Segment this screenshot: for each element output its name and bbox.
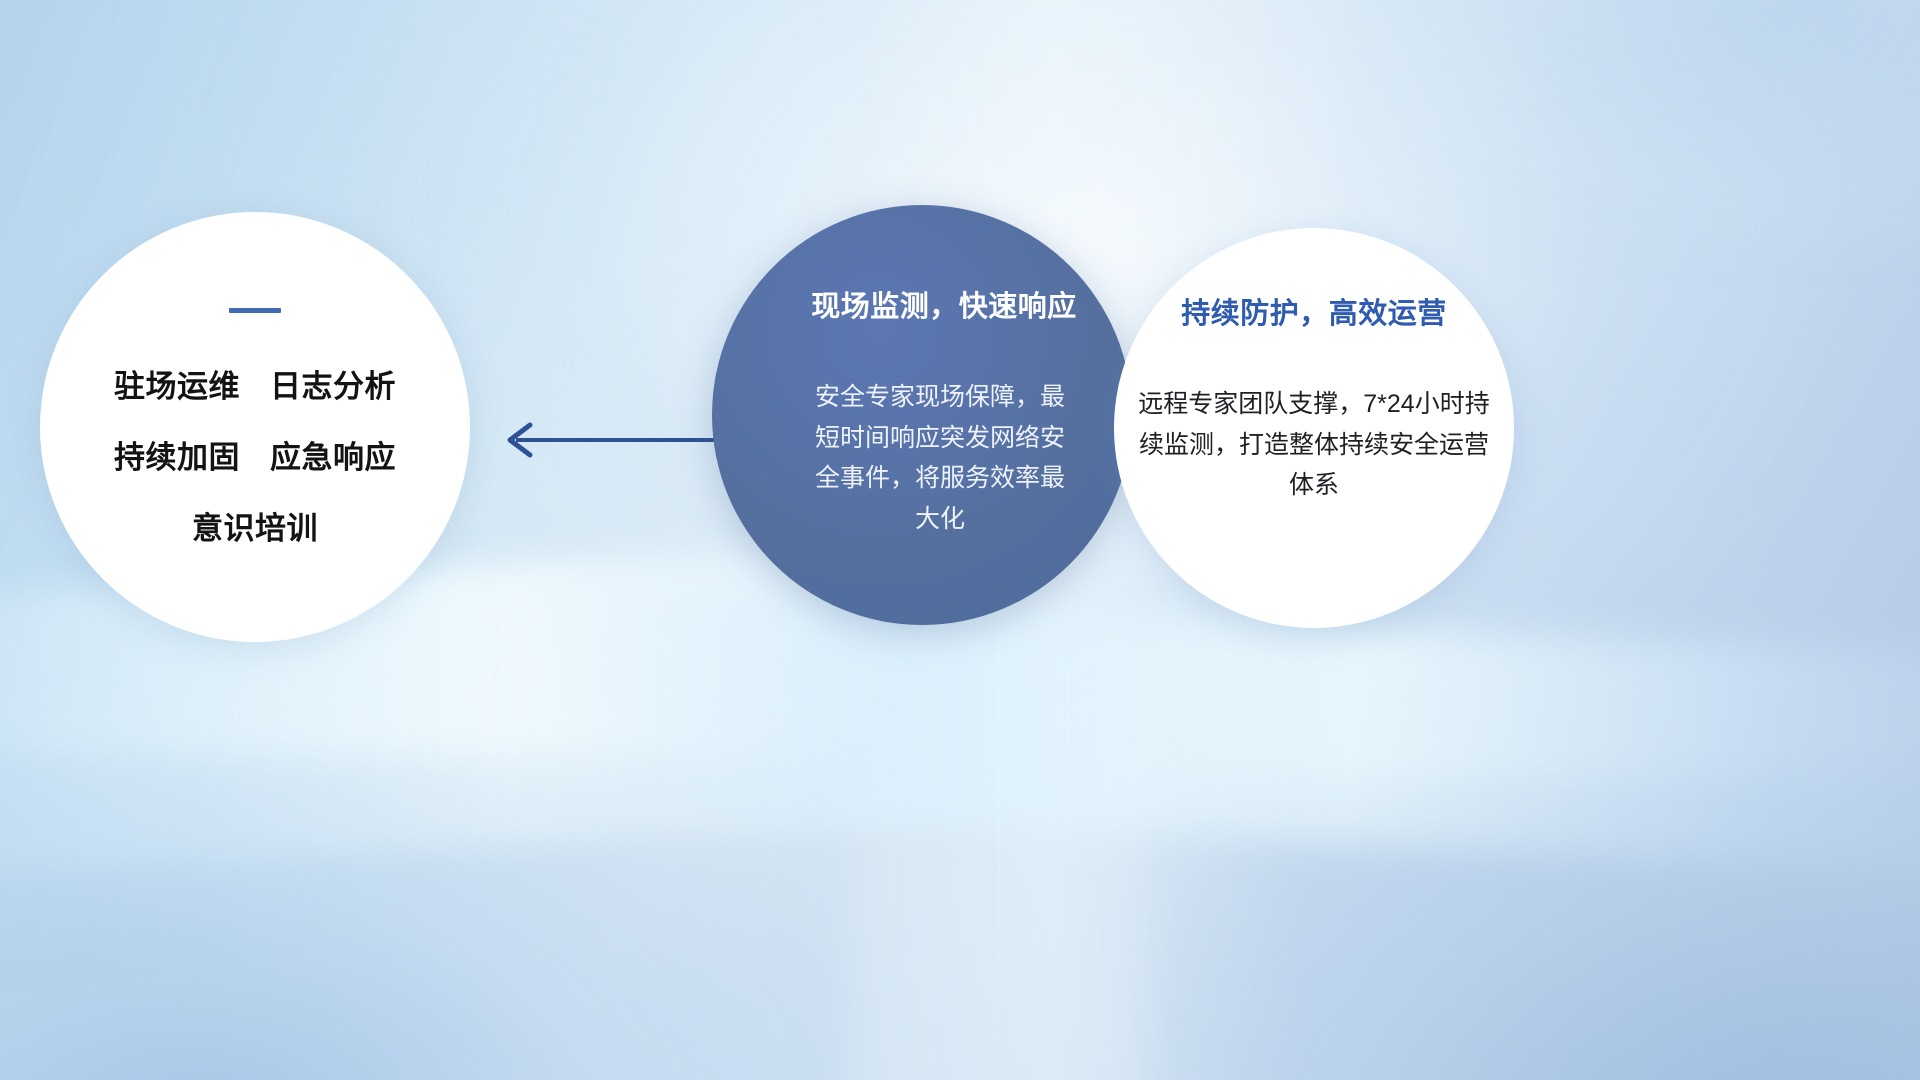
capability-item: 应急响应 xyxy=(270,432,396,477)
middle-circle-body: 安全专家现场保障，最短时间响应突发网络安全事件，将服务效率最大化 xyxy=(804,377,1076,539)
background-bottom-left-glow xyxy=(0,756,845,1080)
right-circle-body: 远程专家团队支撑，7*24小时持续监测，打造整体持续安全运营体系 xyxy=(1135,384,1493,506)
capability-row: 驻场运维 日志分析 xyxy=(114,361,396,406)
arrow-left-icon xyxy=(492,418,717,462)
capability-circle-middle: 现场监测，快速响应 安全专家现场保障，最短时间响应突发网络安全事件，将服务效率最… xyxy=(712,205,1132,625)
middle-circle-content: 现场监测，快速响应 安全专家现场保障，最短时间响应突发网络安全事件，将服务效率最… xyxy=(712,205,1132,625)
capability-row: 持续加固 应急响应 xyxy=(114,432,396,477)
capability-item: 驻场运维 xyxy=(114,361,240,406)
capability-circle-right: 持续防护，高效运营 远程专家团队支撑，7*24小时持续监测，打造整体持续安全运营… xyxy=(1114,228,1514,628)
background-bottom-right-glow xyxy=(1152,778,1920,1080)
background-top-right-glow xyxy=(1344,0,1920,259)
title-divider-rule xyxy=(229,308,281,313)
capability-circle-left: 驻场运维 日志分析 持续加固 应急响应 意识培训 xyxy=(40,212,470,642)
capability-item: 持续加固 xyxy=(114,432,240,477)
capability-item: 日志分析 xyxy=(270,361,396,406)
middle-circle-title: 现场监测，快速响应 xyxy=(811,283,1077,325)
capability-item: 意识培训 xyxy=(192,503,318,548)
capability-row: 意识培训 xyxy=(192,503,318,548)
left-circle-content: 驻场运维 日志分析 持续加固 应急响应 意识培训 xyxy=(40,212,470,642)
capability-keyword-list: 驻场运维 日志分析 持续加固 应急响应 意识培训 xyxy=(114,361,396,548)
arrow-left-svg xyxy=(492,418,717,462)
right-circle-title: 持续防护，高效运营 xyxy=(1181,290,1447,332)
right-circle-content: 持续防护，高效运营 远程专家团队支撑，7*24小时持续监测，打造整体持续安全运营… xyxy=(1114,228,1514,628)
